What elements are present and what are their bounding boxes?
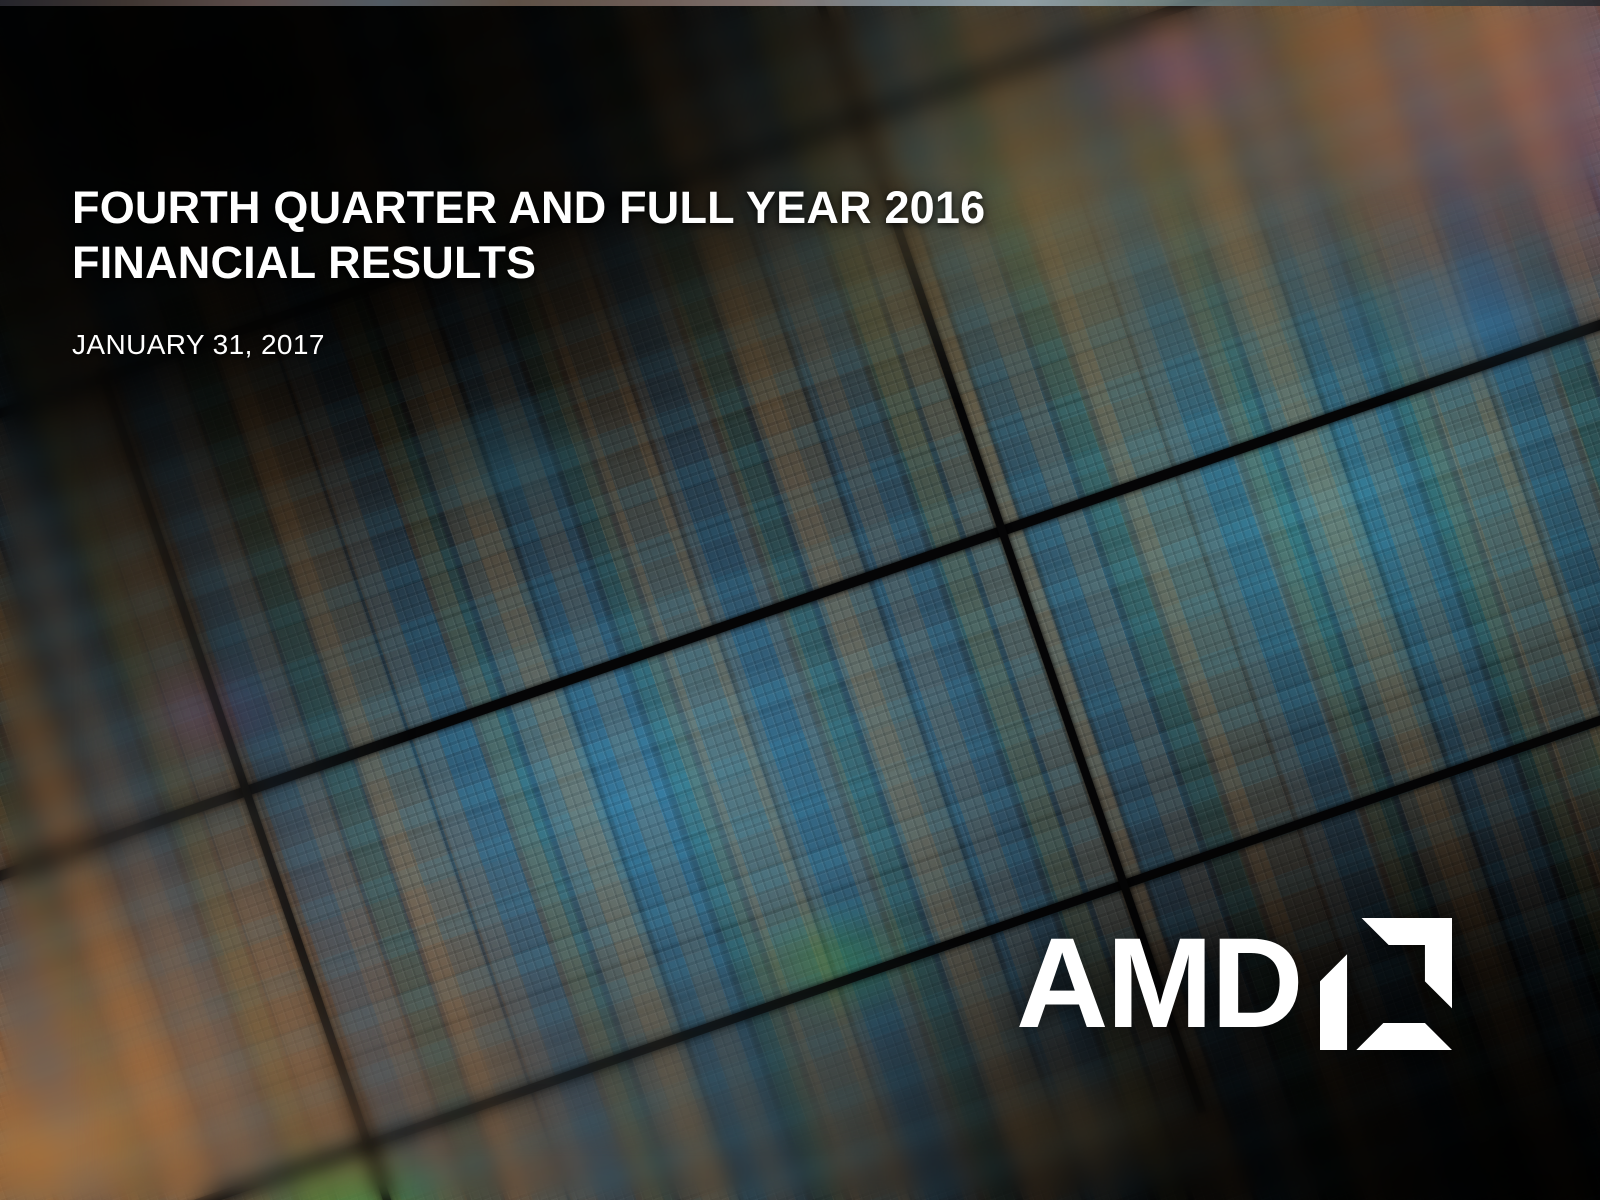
top-edge-highlight [0, 0, 1600, 6]
amd-wordmark: AMD [1016, 921, 1302, 1046]
title-block: FOURTH QUARTER AND FULL YEAR 2016 FINANC… [72, 180, 1072, 361]
slide-title: FOURTH QUARTER AND FULL YEAR 2016 FINANC… [72, 180, 1072, 291]
amd-title-slide: FOURTH QUARTER AND FULL YEAR 2016 FINANC… [0, 0, 1600, 1200]
slide-date: JANUARY 31, 2017 [72, 291, 1072, 361]
amd-logo: AMD [1016, 918, 1452, 1050]
amd-arrow-icon [1320, 918, 1452, 1050]
